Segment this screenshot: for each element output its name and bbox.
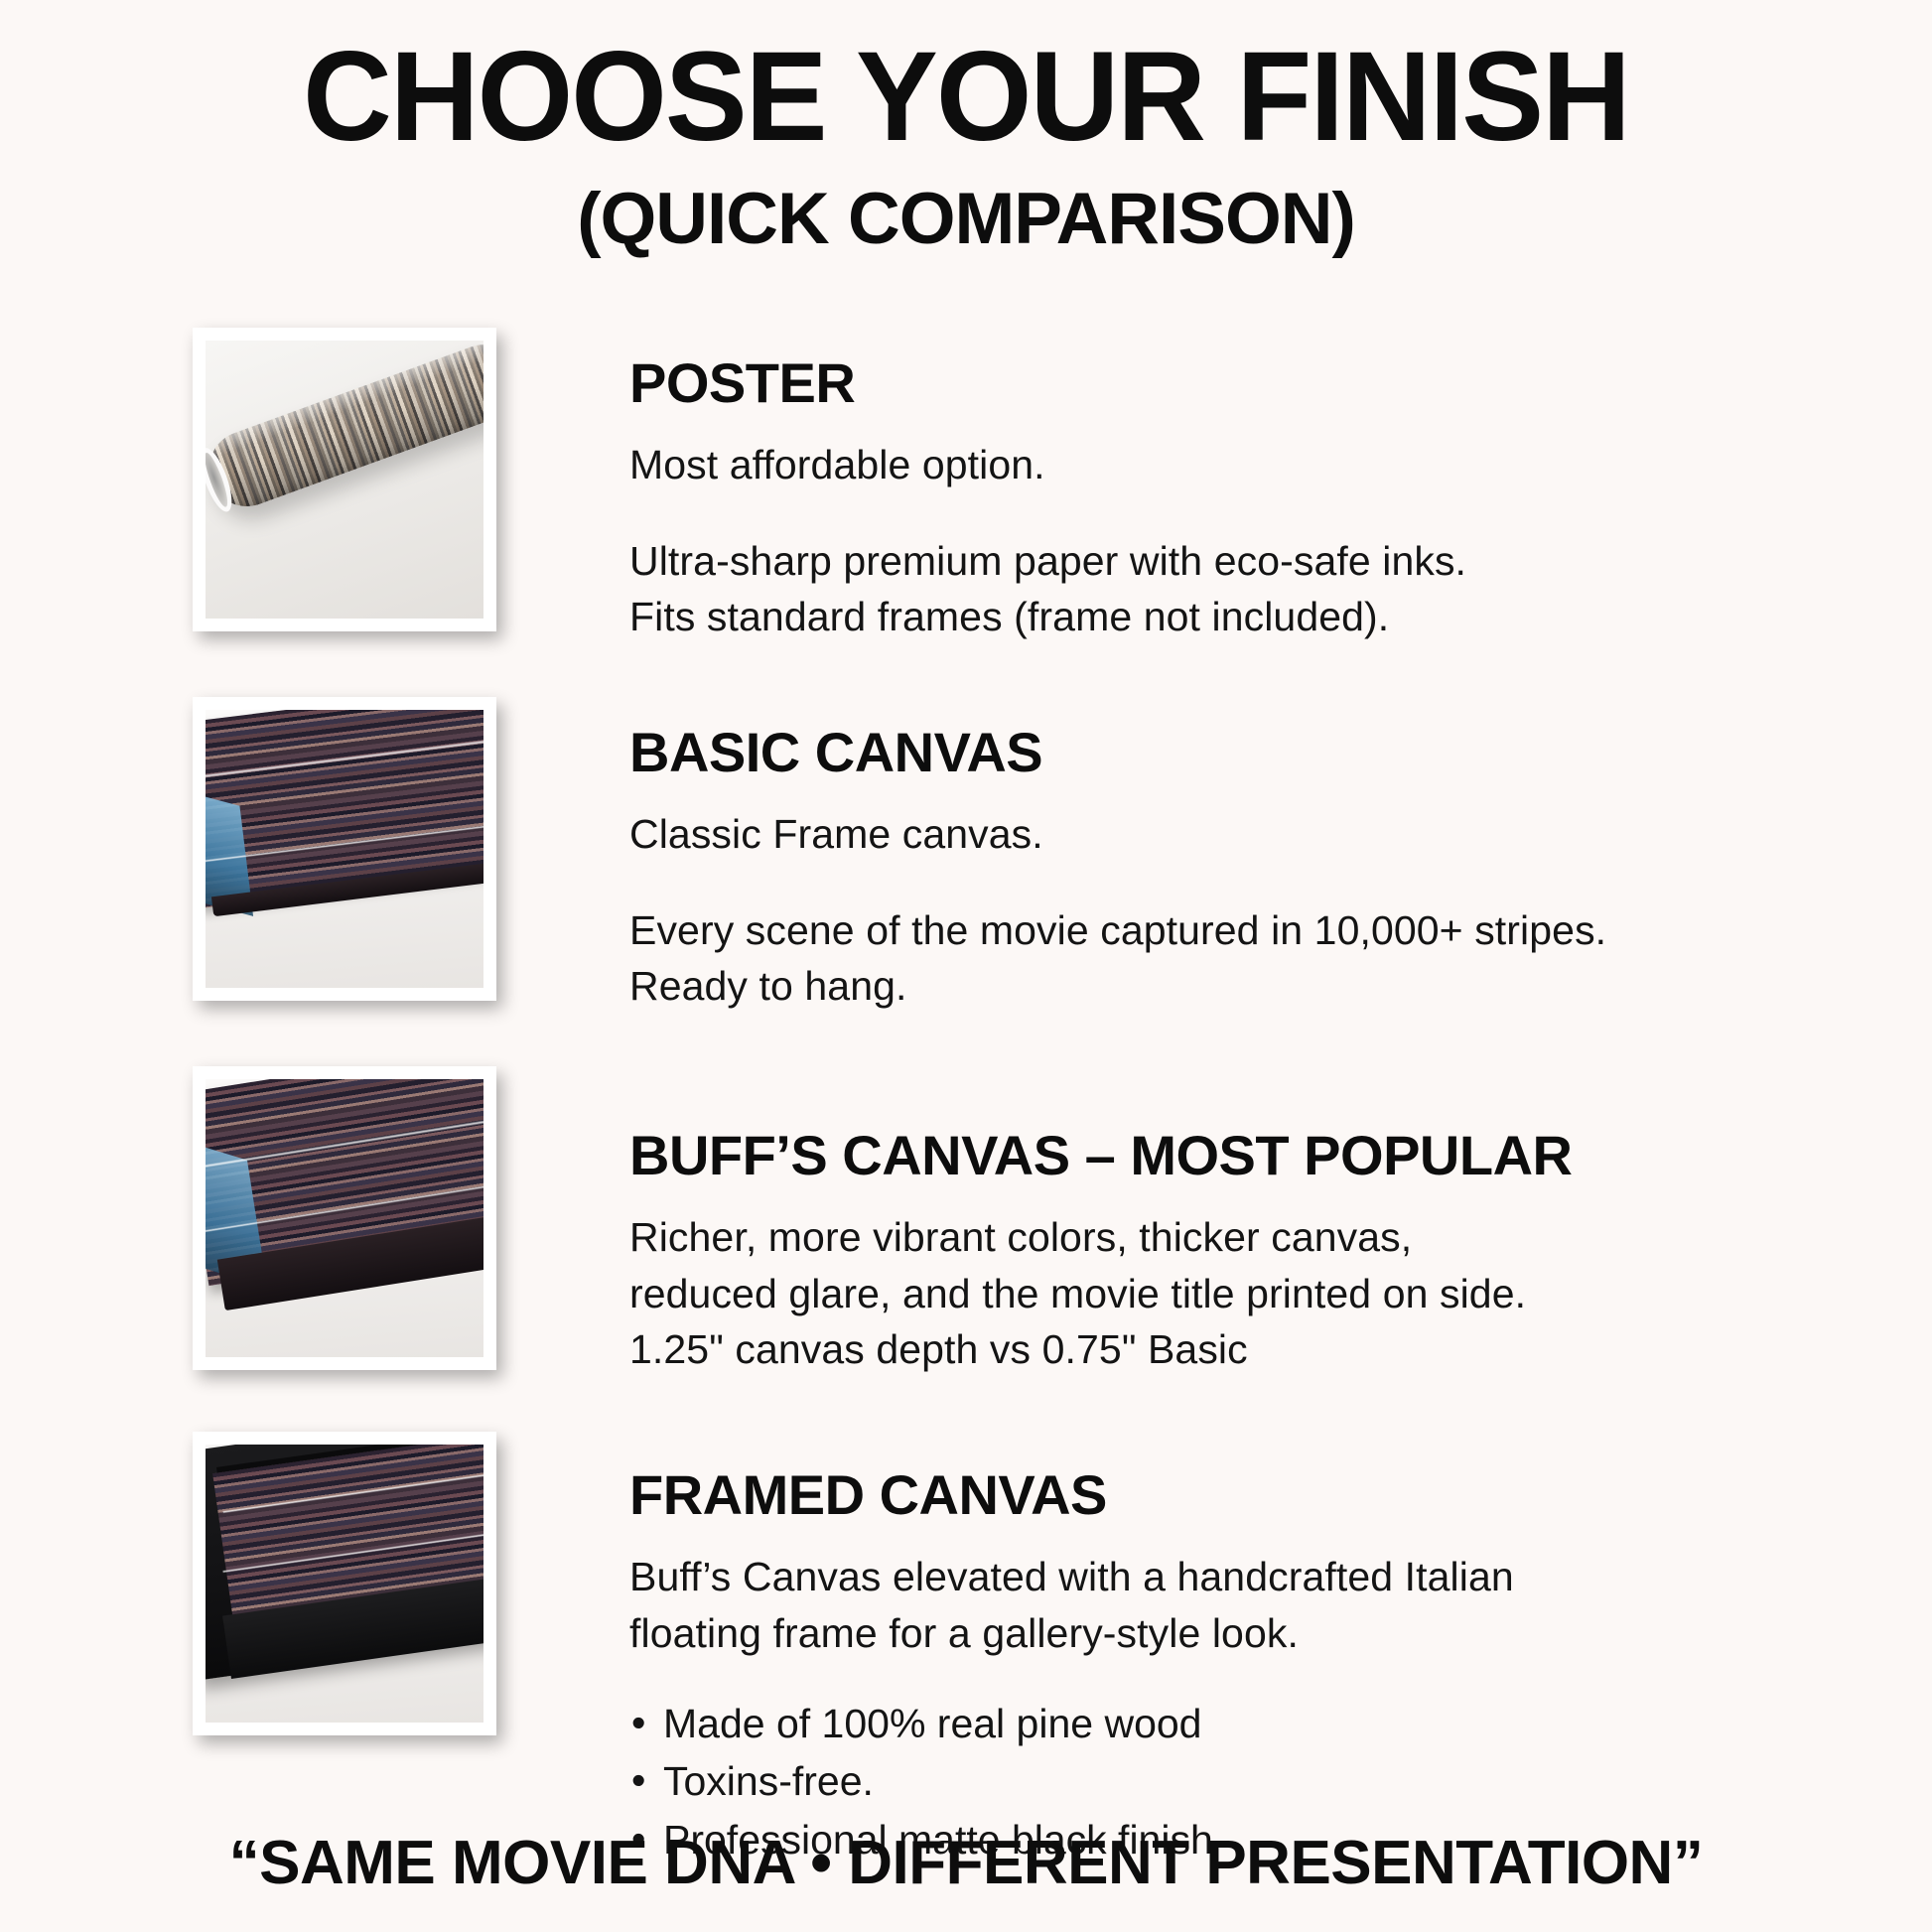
page-subtitle: (QUICK COMPARISON) bbox=[0, 183, 1932, 255]
poster-detail-line-2: Fits standard frames (frame not included… bbox=[629, 594, 1389, 639]
list-item: Made of 100% real pine wood bbox=[629, 1695, 1514, 1752]
framed-canvas-detail-line-1: Buff’s Canvas elevated with a handcrafte… bbox=[629, 1554, 1514, 1599]
buffs-canvas-image-card bbox=[193, 1066, 496, 1370]
comparison-list: POSTER Most affordable option. Ultra-sha… bbox=[0, 328, 1932, 1789]
buffs-canvas-text-block: BUFF’S CANVAS – MOST POPULAR Richer, mor… bbox=[629, 1066, 1572, 1378]
comparison-row-buffs-canvas: BUFF’S CANVAS – MOST POPULAR Richer, mor… bbox=[0, 1066, 1932, 1432]
basic-canvas-body-primary: Classic Frame canvas. bbox=[629, 806, 1606, 863]
framed-canvas-image bbox=[206, 1445, 483, 1723]
framed-canvas-scene bbox=[206, 1445, 483, 1723]
comparison-row-poster: POSTER Most affordable option. Ultra-sha… bbox=[0, 328, 1932, 697]
framed-canvas-text-block: FRAMED CANVAS Buff’s Canvas elevated wit… bbox=[629, 1432, 1514, 1868]
list-item: Toxins-free. bbox=[629, 1752, 1514, 1810]
basic-canvas-detail-line-1: Every scene of the movie captured in 10,… bbox=[629, 907, 1606, 953]
poster-roll-icon bbox=[206, 341, 483, 517]
basic-canvas-text-block: BASIC CANVAS Classic Frame canvas. Every… bbox=[629, 697, 1606, 1015]
page-title: CHOOSE YOUR FINISH bbox=[29, 34, 1903, 161]
framed-canvas-title: FRAMED CANVAS bbox=[629, 1467, 1514, 1523]
poster-roll-end-cap-icon bbox=[206, 445, 238, 515]
basic-canvas-scene bbox=[206, 710, 483, 988]
comparison-row-basic-canvas: BASIC CANVAS Classic Frame canvas. Every… bbox=[0, 697, 1932, 1066]
comparison-row-framed-canvas: FRAMED CANVAS Buff’s Canvas elevated wit… bbox=[0, 1432, 1932, 1789]
basic-canvas-image-card bbox=[193, 697, 496, 1001]
poster-body-primary: Most affordable option. bbox=[629, 437, 1466, 493]
poster-image bbox=[206, 341, 483, 619]
poster-detail-line-1: Ultra-sharp premium paper with eco-safe … bbox=[629, 538, 1466, 584]
basic-canvas-body-detail: Every scene of the movie captured in 10,… bbox=[629, 902, 1606, 1015]
buffs-canvas-body-detail: Richer, more vibrant colors, thicker can… bbox=[629, 1209, 1572, 1378]
basic-canvas-title: BASIC CANVAS bbox=[629, 725, 1606, 780]
poster-title: POSTER bbox=[629, 355, 1466, 411]
poster-body-detail: Ultra-sharp premium paper with eco-safe … bbox=[629, 533, 1466, 645]
basic-canvas-detail-line-2: Ready to hang. bbox=[629, 963, 907, 1009]
framed-canvas-body-detail: Buff’s Canvas elevated with a handcrafte… bbox=[629, 1549, 1514, 1661]
buffs-canvas-detail-line-2: reduced glare, and the movie title print… bbox=[629, 1271, 1526, 1316]
poster-text-block: POSTER Most affordable option. Ultra-sha… bbox=[629, 328, 1466, 645]
basic-canvas-image bbox=[206, 710, 483, 988]
framed-canvas-image-card bbox=[193, 1432, 496, 1735]
framed-canvas-detail-line-2: floating frame for a gallery-style look. bbox=[629, 1610, 1299, 1656]
buffs-canvas-detail-line-3: 1.25" canvas depth vs 0.75" Basic bbox=[629, 1326, 1248, 1372]
footer-tagline: “SAME MOVIE DNA • DIFFERENT PRESENTATION… bbox=[0, 1828, 1932, 1898]
buffs-canvas-title: BUFF’S CANVAS – MOST POPULAR bbox=[629, 1128, 1572, 1183]
poster-image-card bbox=[193, 328, 496, 631]
buffs-canvas-scene bbox=[206, 1079, 483, 1357]
buffs-canvas-detail-line-1: Richer, more vibrant colors, thicker can… bbox=[629, 1214, 1412, 1260]
page-header: CHOOSE YOUR FINISH (QUICK COMPARISON) bbox=[0, 0, 1932, 255]
poster-roll-scene bbox=[206, 341, 483, 619]
buffs-canvas-image bbox=[206, 1079, 483, 1357]
